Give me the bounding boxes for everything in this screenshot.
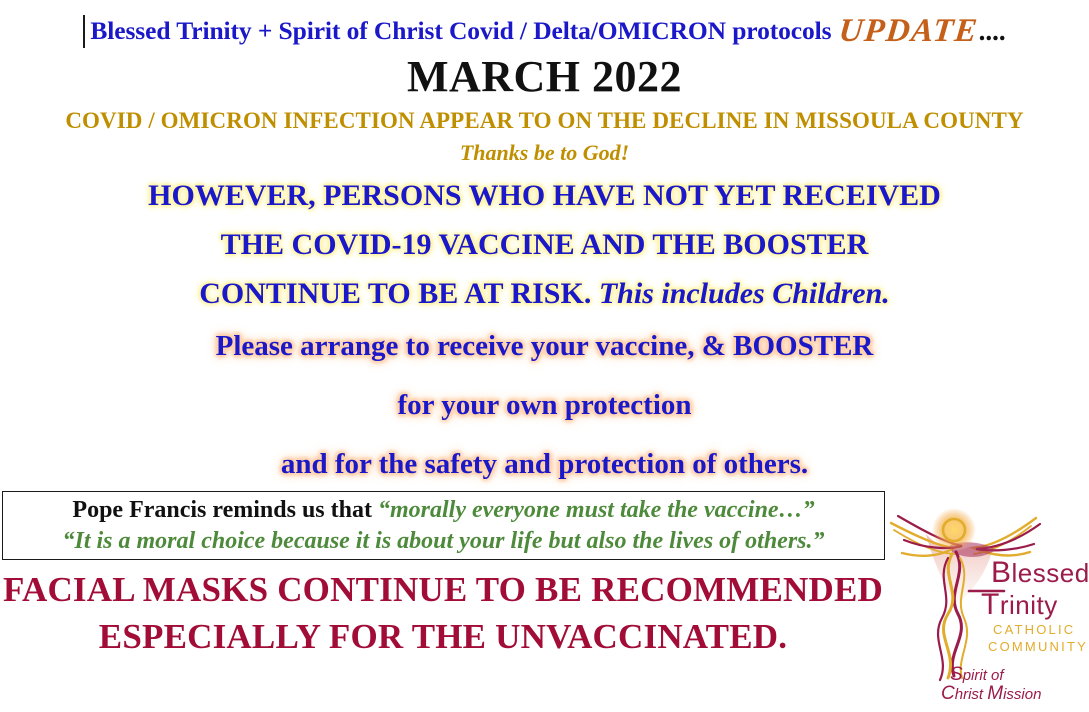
logo-artwork: Blessed Trinity CATHOLIC COMMUNITY Spiri… [888, 500, 1089, 712]
risk-line-3: CONTINUE TO BE AT RISK. This includes Ch… [0, 276, 1089, 312]
pope-quote-line-1: Pope Francis reminds us that “morally ev… [3, 495, 884, 525]
pope-attribution: Pope Francis reminds us that [72, 497, 372, 523]
text-cursor-icon [83, 15, 85, 48]
poster-canvas: Blessed Trinity + Spirit of Christ Covid… [0, 0, 1089, 712]
arrange-line-3: and for the safety and protection of oth… [0, 447, 1089, 482]
logo-halo-glow [932, 508, 976, 552]
header-title: Blessed Trinity + Spirit of Christ Covid… [90, 18, 831, 44]
risk-line-3-plain: CONTINUE TO BE AT RISK. [199, 277, 591, 310]
logo-word-catholic: CATHOLIC [993, 622, 1075, 637]
risk-line-2: THE COVID-19 VACCINE AND THE BOOSTER [0, 227, 1089, 263]
pope-quote-1: “morally everyone must take the vaccine…… [378, 497, 815, 523]
update-dots: .... [979, 18, 1006, 45]
masks-line-2: ESPECIALLY FOR THE UNVACCINATED. [0, 617, 886, 657]
gold-thanksgiving: Thanks be to God! [0, 140, 1089, 165]
gold-headline: COVID / OMICRON INFECTION APPEAR TO ON T… [0, 108, 1089, 134]
logo-mission-line-2: Christ Mission [941, 683, 1041, 704]
risk-line-1: HOWEVER, PERSONS WHO HAVE NOT YET RECEIV… [0, 178, 1089, 214]
pope-quote-2: “It is a moral choice because it is abou… [63, 528, 825, 554]
logo-word-community: COMMUNITY [988, 639, 1088, 654]
month-heading: MARCH 2022 [0, 54, 1089, 100]
blessed-trinity-logo: Blessed Trinity CATHOLIC COMMUNITY Spiri… [888, 500, 1089, 712]
masks-line-1: FACIAL MASKS CONTINUE TO BE RECOMMENDED [0, 570, 886, 610]
arrange-line-2: for your own protection [0, 388, 1089, 423]
logo-word-blessed: Blessed [991, 556, 1089, 589]
risk-line-3-italic: This includes Children. [599, 277, 890, 310]
update-word: UPDATE [838, 15, 981, 48]
pope-quote-box: Pope Francis reminds us that “morally ev… [2, 491, 885, 560]
pope-quote-line-2: “It is a moral choice because it is abou… [3, 526, 884, 556]
arrange-line-1: Please arrange to receive your vaccine, … [0, 329, 1089, 364]
header-row: Blessed Trinity + Spirit of Christ Covid… [0, 10, 1089, 52]
logo-mission-line-1: Spirit of [950, 664, 1005, 685]
logo-word-trinity: Trinity [981, 588, 1058, 621]
